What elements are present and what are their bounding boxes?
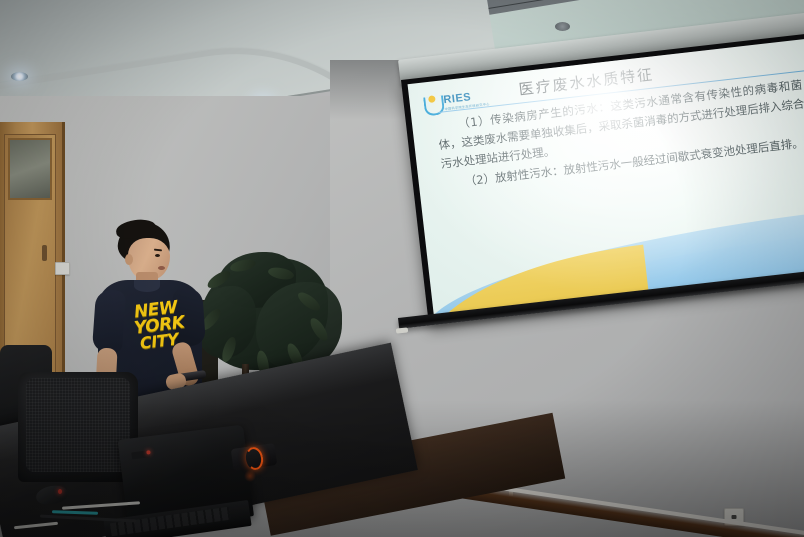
light-switch[interactable] [55,262,70,275]
ceiling-downlight-4 [555,22,570,31]
ceiling-downlight-1 [11,72,28,81]
presenter-ear [125,254,133,265]
slide-canvas: RIES 中国科学院生态环境研究中心 医疗废水水质特征 （1）传染病房产生的污水… [408,39,804,315]
presenter-mouth [158,266,165,270]
shirt-graphic-text: NEW YORK CITY [133,296,208,352]
door-handle[interactable] [42,245,47,261]
laptop-logo-dot-icon [146,450,150,454]
mouse-led-icon [58,489,62,494]
presenter-sleeve-left [92,289,126,353]
logo-dot-icon [427,95,435,103]
presenter-eye [155,254,160,257]
office-chair-mesh [26,378,130,472]
photo-scene: RIES 中国科学院生态环境研究中心 医疗废水水质特征 （1）传染病房产生的污水… [0,0,804,537]
speaker-led-reflection [244,470,256,482]
presenter-collar [134,280,160,292]
door-glass-panel [8,138,52,200]
